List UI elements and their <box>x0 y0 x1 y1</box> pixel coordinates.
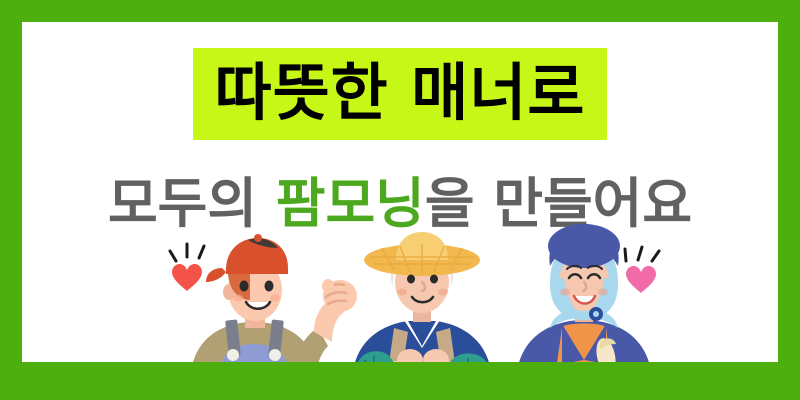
subtitle-container: 모두의 팜모닝을 만들어요 <box>22 177 778 231</box>
banner-inner-panel: 따뜻한 매너로 모두의 팜모닝을 만들어요 <box>22 22 778 384</box>
character-elderly-woman-farmer <box>516 224 652 384</box>
farmers-illustration <box>22 224 778 384</box>
eye-right-icon <box>265 281 274 292</box>
eye-left-icon <box>240 281 249 292</box>
right-heart-icon <box>626 266 656 293</box>
bonnet-icon <box>548 224 620 268</box>
farmers-illustration-svg <box>22 224 778 384</box>
right-motion-lines-icon <box>625 247 659 261</box>
eye-right-icon <box>430 275 438 284</box>
headline-container: 따뜻한 매너로 <box>22 48 778 140</box>
eye-left-icon <box>407 275 415 284</box>
straw-hat-icon <box>364 232 480 276</box>
left-heart-icon <box>172 264 202 291</box>
headline-text: 따뜻한 매너로 <box>193 48 608 140</box>
left-motion-lines-icon <box>170 244 204 261</box>
ground-strip <box>22 362 778 384</box>
promo-banner: 따뜻한 매너로 모두의 팜모닝을 만들어요 <box>0 0 800 400</box>
